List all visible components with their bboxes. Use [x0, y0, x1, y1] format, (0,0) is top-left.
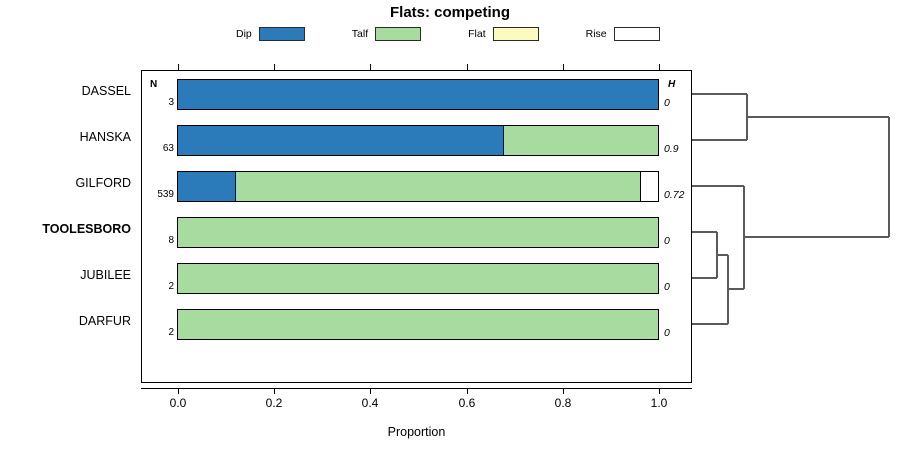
row-label-gilford: GILFORD	[0, 176, 131, 190]
row-label-hanska: HANSKA	[0, 130, 131, 144]
legend-gap	[539, 33, 586, 34]
legend-swatch	[493, 27, 539, 41]
x-tick-label: 0.4	[350, 396, 390, 410]
x-tick-label: 0.8	[543, 396, 583, 410]
row-n-value: 3	[143, 97, 174, 108]
x-tick	[178, 388, 179, 394]
legend-label: Rise	[586, 28, 607, 40]
x-tick-label: 0.6	[447, 396, 487, 410]
x-tick	[659, 388, 660, 394]
bar-segment-dip	[178, 80, 658, 109]
dendrogram-svg	[692, 70, 900, 383]
bar-segment-talf	[178, 264, 658, 293]
legend-gap	[421, 33, 468, 34]
x-tick	[563, 388, 564, 394]
dendrogram	[692, 70, 900, 383]
x-tick-label: 0.0	[158, 396, 198, 410]
bar-segment-talf	[178, 310, 658, 339]
x-tick	[370, 388, 371, 394]
legend-label: Flat	[468, 28, 486, 40]
legend-swatch	[614, 27, 660, 41]
legend: DipTalfFlatRise	[236, 25, 660, 42]
row-label-jubilee: JUBILEE	[0, 268, 131, 282]
x-tick-top	[659, 64, 660, 70]
x-axis-line	[141, 388, 692, 389]
stacked-bar[interactable]	[177, 263, 659, 294]
row-n-value: 2	[143, 327, 174, 338]
legend-item-flat[interactable]: Flat	[468, 27, 539, 41]
bar-segment-rise	[641, 172, 658, 201]
stacked-bar[interactable]	[177, 171, 659, 202]
legend-gap	[305, 33, 352, 34]
x-tick-top	[467, 64, 468, 70]
bar-segment-talf	[504, 126, 658, 155]
x-axis-title: Proportion	[141, 425, 692, 439]
row-n-value: 539	[143, 189, 174, 200]
x-tick-top	[370, 64, 371, 70]
x-tick-top	[563, 64, 564, 70]
legend-label: Talf	[352, 28, 368, 40]
x-tick	[274, 388, 275, 394]
legend-label: Dip	[236, 28, 252, 40]
bar-segment-dip	[178, 172, 236, 201]
stacked-bar[interactable]	[177, 217, 659, 248]
stacked-bar[interactable]	[177, 309, 659, 340]
row-n-value: 2	[143, 281, 174, 292]
x-tick-top	[274, 64, 275, 70]
row-n-value: 8	[143, 235, 174, 246]
bar-segment-dip	[178, 126, 504, 155]
x-tick-label: 1.0	[639, 396, 679, 410]
legend-swatch	[259, 27, 305, 41]
bar-segment-talf	[236, 172, 642, 201]
row-label-dassel: DASSEL	[0, 84, 131, 98]
x-tick	[467, 388, 468, 394]
row-label-darfur: DARFUR	[0, 314, 131, 328]
stacked-bar[interactable]	[177, 125, 659, 156]
row-label-toolesboro: TOOLESBORO	[0, 222, 131, 236]
legend-item-talf[interactable]: Talf	[352, 27, 421, 41]
row-n-value: 63	[143, 143, 174, 154]
bar-segment-talf	[178, 218, 658, 247]
x-tick-label: 0.2	[254, 396, 294, 410]
stacked-bar[interactable]	[177, 79, 659, 110]
legend-swatch	[375, 27, 421, 41]
chart-title: Flats: competing	[0, 4, 900, 21]
legend-item-dip[interactable]: Dip	[236, 27, 305, 41]
x-tick-top	[178, 64, 179, 70]
legend-item-rise[interactable]: Rise	[586, 27, 660, 41]
